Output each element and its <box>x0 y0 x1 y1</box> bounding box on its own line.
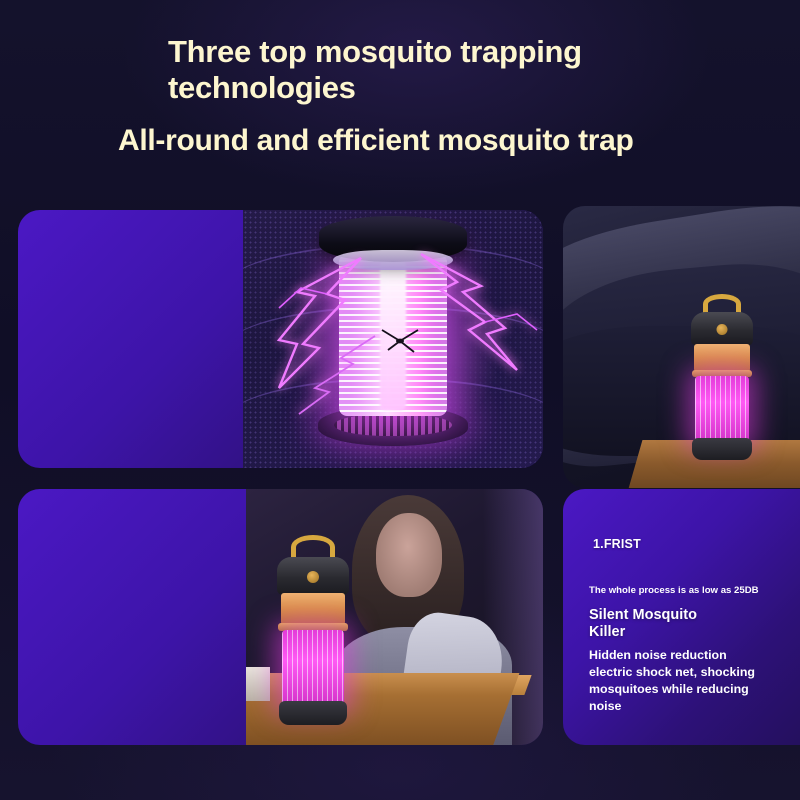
lantern-uv-grid <box>695 376 749 442</box>
card1-tag: 1.FRIST <box>68 465 116 468</box>
lantern-base <box>279 701 347 725</box>
room-scene <box>246 489 543 745</box>
headline-secondary: All-round and efficient mosquito trap <box>118 124 718 157</box>
card-professional-mosquito-trap[interactable]: 1.FRIST Professional mosquito trap No fe… <box>18 210 543 468</box>
card4-title: Silent Mosquito Killer <box>589 607 779 641</box>
lantern-device <box>270 535 356 731</box>
lantern-uv-grid <box>282 630 344 706</box>
bed-duvet-lower <box>563 326 800 456</box>
zapper-scene <box>243 210 543 468</box>
lightning-bolt-lower <box>295 330 385 420</box>
card4-subtitle-1: Hidden noise reduction electric shock ne… <box>589 647 789 715</box>
zapper-photo <box>243 210 543 468</box>
lightning-bolt-right <box>413 238 543 398</box>
lantern-copper-band <box>694 344 750 372</box>
lantern-device <box>685 294 759 466</box>
bedroom-photo <box>563 206 800 488</box>
woman-figure <box>342 495 474 671</box>
card-silent-mosquito-killer[interactable]: 1.FRIST The whole process is as low as 2… <box>563 489 800 745</box>
woman-face <box>376 513 442 597</box>
lantern-handle <box>291 535 335 559</box>
bedroom-scene <box>563 206 800 488</box>
lantern-base <box>692 438 752 460</box>
lantern-copper-band <box>281 593 345 625</box>
lantern-power-button <box>307 571 319 583</box>
lantern-handle <box>703 294 741 314</box>
mosquito-silhouette <box>376 328 422 354</box>
card-bedroom-night-use[interactable] <box>563 206 800 488</box>
white-box <box>246 667 270 701</box>
lantern-power-button <box>717 324 728 335</box>
table-lantern-photo <box>246 489 543 745</box>
card4-subtitle-0: The whole process is as low as 25DB <box>589 585 789 598</box>
headline-primary: Three top mosquito trapping technologies <box>168 34 688 106</box>
card4-tag: 1.FRIST <box>593 535 641 553</box>
card-instantaneous-voltage[interactable]: 1.FRIST 3000v instantaneous voltage Kill… <box>18 489 543 745</box>
